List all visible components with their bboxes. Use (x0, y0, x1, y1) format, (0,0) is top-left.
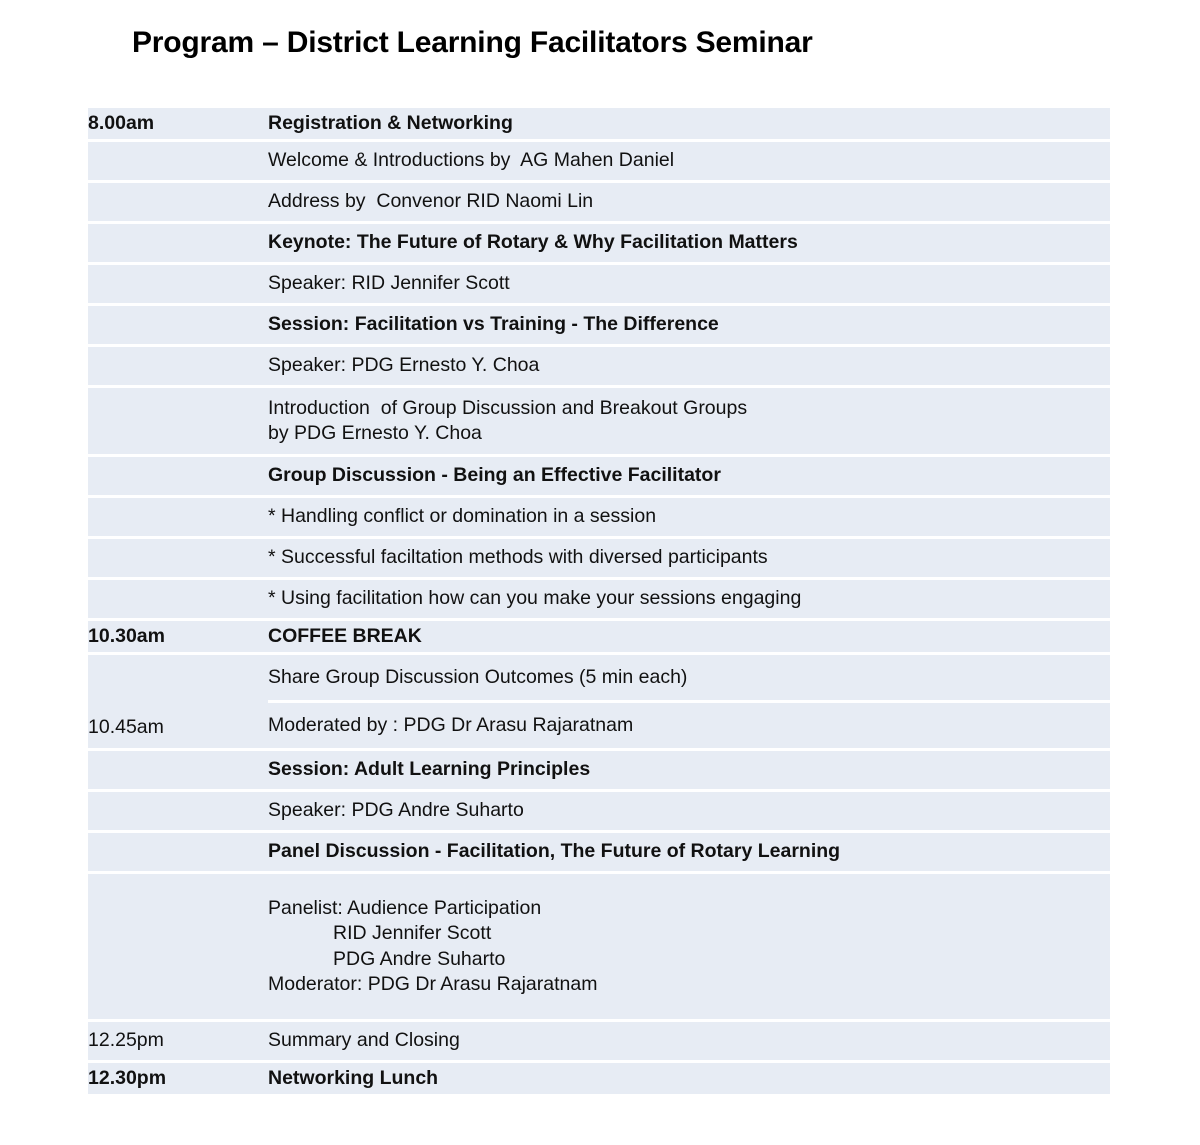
program-item-line: Session: Adult Learning Principles (268, 757, 1110, 782)
program-item-cell: Speaker: PDG Ernesto Y. Choa (268, 347, 1110, 388)
table-row: Panelist: Audience Participation RID Jen… (88, 874, 1110, 1022)
table-row: Welcome & Introductions by AG Mahen Dani… (88, 142, 1110, 183)
time-cell (88, 498, 268, 539)
program-item-line: Address by Convenor RID Naomi Lin (268, 189, 1110, 214)
program-item-line: * Using facilitation how can you make yo… (268, 586, 1110, 611)
program-item-cell: Session: Adult Learning Principles (268, 751, 1110, 792)
time-cell (88, 580, 268, 621)
program-item-line: Speaker: RID Jennifer Scott (268, 271, 1110, 296)
program-item-cell: Networking Lunch (268, 1063, 1110, 1097)
program-item-cell: Panel Discussion - Facilitation, The Fut… (268, 833, 1110, 874)
program-item-line: PDG Andre Suharto (268, 947, 1110, 972)
program-item-line: Welcome & Introductions by AG Mahen Dani… (268, 148, 1110, 173)
program-item-cell: Registration & Networking (268, 108, 1110, 142)
program-item-line: Session: Facilitation vs Training - The … (268, 312, 1110, 337)
program-item-cell: Speaker: PDG Andre Suharto (268, 792, 1110, 833)
program-item-line: by PDG Ernesto Y. Choa (268, 421, 1110, 446)
time-cell (88, 306, 268, 347)
program-item-line: Moderator: PDG Dr Arasu Rajaratnam (268, 972, 1110, 997)
program-item-cell: Panelist: Audience Participation RID Jen… (268, 874, 1110, 1022)
program-item-cell: * Using facilitation how can you make yo… (268, 580, 1110, 621)
time-label: 12.30pm (88, 1067, 166, 1089)
program-item-cell: Speaker: RID Jennifer Scott (268, 265, 1110, 306)
program-item-line: Introduction of Group Discussion and Bre… (268, 396, 1110, 421)
time-label: 8.00am (88, 112, 154, 134)
program-item-line: Panelist: Audience Participation (268, 896, 1110, 921)
page-title: Program – District Learning Facilitators… (132, 26, 813, 60)
program-item-line: Keynote: The Future of Rotary & Why Faci… (268, 230, 1110, 255)
program-item-line: Summary and Closing (268, 1028, 1110, 1053)
time-cell (88, 183, 268, 224)
time-cell (88, 388, 268, 457)
program-item-line: RID Jennifer Scott (268, 921, 1110, 946)
time-cell (88, 265, 268, 306)
program-item-cell: * Handling conflict or domination in a s… (268, 498, 1110, 539)
table-row: * Successful faciltation methods with di… (88, 539, 1110, 580)
table-row: Address by Convenor RID Naomi Lin (88, 183, 1110, 224)
time-label: 12.25pm (88, 1029, 164, 1051)
program-item-cell: COFFEE BREAK (268, 621, 1110, 655)
time-cell (88, 751, 268, 792)
table-row: Introduction of Group Discussion and Bre… (88, 388, 1110, 457)
program-item-line: Registration & Networking (268, 111, 1110, 136)
time-cell: 12.25pm (88, 1022, 268, 1063)
program-table-body: 8.00amRegistration & NetworkingWelcome &… (88, 108, 1110, 1097)
program-page: Program – District Learning Facilitators… (0, 0, 1200, 1145)
table-row: 8.00amRegistration & Networking (88, 108, 1110, 142)
program-item-cell: Address by Convenor RID Naomi Lin (268, 183, 1110, 224)
program-item-cell: Introduction of Group Discussion and Bre… (268, 388, 1110, 457)
time-cell (88, 142, 268, 183)
table-row: Session: Facilitation vs Training - The … (88, 306, 1110, 347)
program-item-line: Networking Lunch (268, 1066, 1110, 1091)
program-item-line: Speaker: PDG Andre Suharto (268, 798, 1110, 823)
program-schedule-table: 8.00amRegistration & NetworkingWelcome &… (88, 108, 1110, 1097)
time-cell: 8.00am (88, 108, 268, 142)
program-item-cell: Welcome & Introductions by AG Mahen Dani… (268, 142, 1110, 183)
table-row: 12.30pmNetworking Lunch (88, 1063, 1110, 1097)
program-item-line: * Handling conflict or domination in a s… (268, 504, 1110, 529)
time-label: 10.30am (88, 625, 165, 647)
time-cell (88, 874, 268, 1022)
table-row: Speaker: PDG Andre Suharto (88, 792, 1110, 833)
time-cell (88, 347, 268, 388)
time-cell (88, 792, 268, 833)
table-row: Speaker: RID Jennifer Scott (88, 265, 1110, 306)
program-item-line: Panel Discussion - Facilitation, The Fut… (268, 839, 1110, 864)
table-row: Panel Discussion - Facilitation, The Fut… (88, 833, 1110, 874)
program-item-cell: * Successful faciltation methods with di… (268, 539, 1110, 580)
time-cell (88, 457, 268, 498)
program-item-line: Group Discussion - Being an Effective Fa… (268, 463, 1110, 488)
table-row: 10.45amShare Group Discussion Outcomes (… (88, 655, 1110, 703)
table-row: Keynote: The Future of Rotary & Why Faci… (88, 224, 1110, 265)
table-row: Session: Adult Learning Principles (88, 751, 1110, 792)
program-item-cell: Session: Facilitation vs Training - The … (268, 306, 1110, 347)
time-cell: 10.45am (88, 655, 268, 751)
time-cell: 12.30pm (88, 1063, 268, 1097)
program-item-cell: Group Discussion - Being an Effective Fa… (268, 457, 1110, 498)
table-row: Speaker: PDG Ernesto Y. Choa (88, 347, 1110, 388)
table-row: 10.30amCOFFEE BREAK (88, 621, 1110, 655)
time-cell (88, 833, 268, 874)
program-item-line: Moderated by : PDG Dr Arasu Rajaratnam (268, 713, 1110, 738)
time-cell (88, 539, 268, 580)
program-item-cell: Summary and Closing (268, 1022, 1110, 1063)
time-cell (88, 224, 268, 265)
program-item-cell: Moderated by : PDG Dr Arasu Rajaratnam (268, 703, 1110, 751)
time-cell: 10.30am (88, 621, 268, 655)
table-row: 12.25pmSummary and Closing (88, 1022, 1110, 1063)
program-item-line: * Successful faciltation methods with di… (268, 545, 1110, 570)
time-label: 10.45am (88, 716, 164, 738)
program-item-cell: Keynote: The Future of Rotary & Why Faci… (268, 224, 1110, 265)
program-item-line: COFFEE BREAK (268, 624, 1110, 649)
program-item-cell: Share Group Discussion Outcomes (5 min e… (268, 655, 1110, 703)
table-row: Group Discussion - Being an Effective Fa… (88, 457, 1110, 498)
program-item-line: Share Group Discussion Outcomes (5 min e… (268, 665, 1110, 690)
table-row: * Using facilitation how can you make yo… (88, 580, 1110, 621)
program-item-line: Speaker: PDG Ernesto Y. Choa (268, 353, 1110, 378)
table-row: * Handling conflict or domination in a s… (88, 498, 1110, 539)
